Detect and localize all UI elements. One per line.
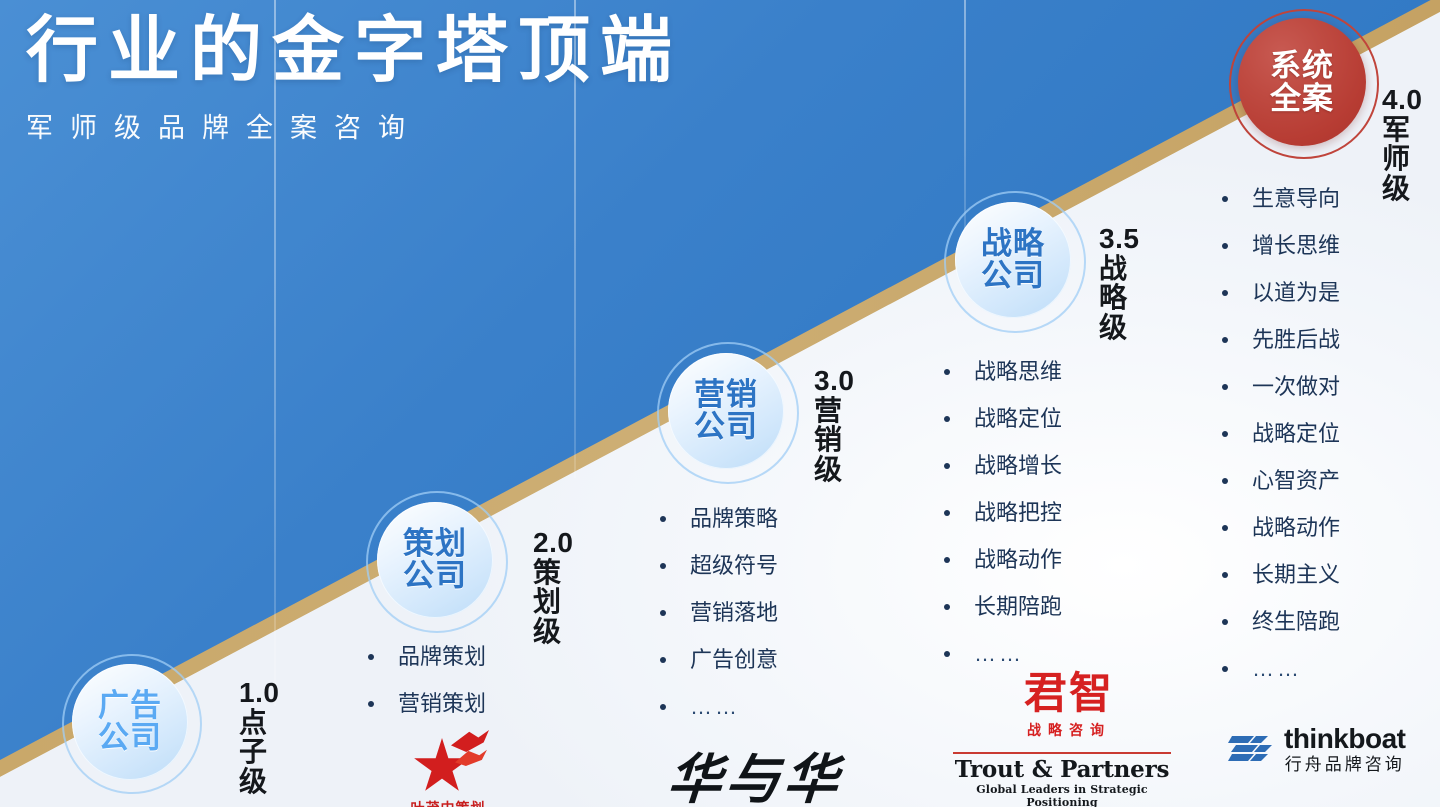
page-title: 行业的金字塔顶端 bbox=[26, 14, 682, 90]
logo-thinkboat: thinkboat 行舟品牌咨询 bbox=[1228, 725, 1406, 773]
logo-huayuhua-wordmark: 华与华 bbox=[657, 735, 853, 807]
stage-5-bullet-8: 长期主义 bbox=[1252, 564, 1340, 586]
stage-2-bullet-1: 营销策划 bbox=[398, 693, 486, 715]
stage-3-bullet-3: 广告创意 bbox=[690, 649, 778, 671]
seal-line1: 系统 bbox=[1270, 48, 1334, 83]
stage-1-level: 1.0 点子级 bbox=[239, 678, 273, 797]
list-item: 战略定位 bbox=[1222, 423, 1340, 445]
stage-1-bubble-line2: 公司 bbox=[98, 720, 162, 755]
bullet-dot-icon bbox=[660, 610, 666, 616]
bullet-dot-icon bbox=[1222, 619, 1228, 625]
logo-trout-wordmark: Trout & Partners bbox=[953, 757, 1171, 782]
stage-3-level-label: 营销级 bbox=[814, 396, 842, 485]
stage-4-bullet-5: 长期陪跑 bbox=[974, 596, 1062, 618]
stage-2-level-label: 策划级 bbox=[533, 558, 561, 647]
list-item: 战略动作 bbox=[1222, 517, 1340, 539]
list-item: 心智资产 bbox=[1222, 470, 1340, 492]
stage-4-bullet-4: 战略动作 bbox=[974, 549, 1062, 571]
list-item: …… bbox=[944, 643, 1062, 665]
bullet-dot-icon bbox=[660, 516, 666, 522]
stage-5-bullet-6: 心智资产 bbox=[1252, 470, 1340, 492]
list-item: 一次做对 bbox=[1222, 376, 1340, 398]
stage-1-level-label: 点子级 bbox=[239, 708, 267, 797]
bullet-dot-icon bbox=[1222, 666, 1228, 672]
list-item: 战略动作 bbox=[944, 549, 1062, 571]
stage-5-bullet-4: 一次做对 bbox=[1252, 376, 1340, 398]
logo-yemaozhong-caption: 叶茂中策划 bbox=[388, 798, 508, 807]
stage-5-bullet-5: 战略定位 bbox=[1252, 423, 1340, 445]
stage-4-bullet-6: …… bbox=[974, 643, 1024, 665]
stage-3-bubble[interactable]: 营销 公司 bbox=[668, 353, 784, 469]
bullet-dot-icon bbox=[1222, 525, 1228, 531]
stage-2-level: 2.0 策划级 bbox=[533, 528, 567, 647]
stage-5-bullets: 生意导向 增长思维 以道为是 先胜后战 一次做对 战略定位 心智资产 战略动作 bbox=[1222, 188, 1340, 705]
stage-5-level-label: 军师级 bbox=[1382, 115, 1410, 204]
stage-4-bullets: 战略思维 战略定位 战略增长 战略把控 战略动作 长期陪跑 …… bbox=[944, 361, 1062, 690]
stage-1-level-number: 1.0 bbox=[239, 678, 273, 708]
stage-3-bullet-2: 营销落地 bbox=[690, 602, 778, 624]
list-item: 战略定位 bbox=[944, 408, 1062, 430]
logo-junzhi: 君智 战略咨询 Trout & Partners Global Leaders … bbox=[953, 673, 1185, 807]
logo-thinkboat-tagline: 行舟品牌咨询 bbox=[1284, 756, 1406, 773]
logo-trout-tagline: Global Leaders in Strategic Positioning bbox=[953, 783, 1171, 807]
stage-2-bullets: 品牌策划 营销策划 bbox=[368, 646, 486, 740]
list-item: 战略增长 bbox=[944, 455, 1062, 477]
stage-4-level: 3.5 战略级 bbox=[1099, 224, 1133, 343]
list-item: 品牌策划 bbox=[368, 646, 486, 668]
stage-4-bullet-0: 战略思维 bbox=[974, 361, 1062, 383]
list-item: 广告创意 bbox=[660, 649, 778, 671]
stage-3-level: 3.0 营销级 bbox=[814, 366, 848, 485]
header: 行业的金字塔顶端 军师级品牌全案咨询 bbox=[26, 14, 682, 145]
bullet-dot-icon bbox=[1222, 337, 1228, 343]
stage-1-bubble-line1: 广告 bbox=[98, 688, 162, 723]
stage-2-bubble-line1: 策划 bbox=[403, 526, 467, 561]
stage-3-bubble-line1: 营销 bbox=[694, 377, 758, 412]
list-item: …… bbox=[660, 696, 778, 718]
thinkboat-mark-icon bbox=[1228, 730, 1274, 768]
bullet-dot-icon bbox=[660, 657, 666, 663]
stage-4-bullet-1: 战略定位 bbox=[974, 408, 1062, 430]
list-item: 终生陪跑 bbox=[1222, 611, 1340, 633]
bullet-dot-icon bbox=[1222, 290, 1228, 296]
bullet-dot-icon bbox=[1222, 572, 1228, 578]
bullet-dot-icon bbox=[1222, 196, 1228, 202]
stage-3-bullets: 品牌策略 超级符号 营销落地 广告创意 …… bbox=[660, 508, 778, 743]
list-item: 先胜后战 bbox=[1222, 329, 1340, 351]
stage-1-bubble[interactable]: 广告 公司 bbox=[72, 664, 188, 780]
list-item: 超级符号 bbox=[660, 555, 778, 577]
list-item: 营销策划 bbox=[368, 693, 486, 715]
list-item: 战略思维 bbox=[944, 361, 1062, 383]
stage-2-bubble-line2: 公司 bbox=[403, 558, 467, 593]
bullet-dot-icon bbox=[1222, 384, 1228, 390]
stage-5-level: 4.0 军师级 bbox=[1382, 85, 1416, 204]
bullet-dot-icon bbox=[944, 416, 950, 422]
list-item: 品牌策略 bbox=[660, 508, 778, 530]
stage-2-bullet-0: 品牌策划 bbox=[398, 646, 486, 668]
stage-4-level-label: 战略级 bbox=[1099, 254, 1127, 343]
list-item: …… bbox=[1222, 658, 1340, 680]
bullet-dot-icon bbox=[944, 369, 950, 375]
list-item: 生意导向 bbox=[1222, 188, 1340, 210]
stage-5-bullet-9: 终生陪跑 bbox=[1252, 611, 1340, 633]
stage-3-bullet-4: …… bbox=[690, 696, 740, 718]
stage-5-bullet-3: 先胜后战 bbox=[1252, 329, 1340, 351]
list-item: 长期陪跑 bbox=[944, 596, 1062, 618]
bullet-dot-icon bbox=[944, 510, 950, 516]
logo-yemaozhong: 叶茂中策划 bbox=[388, 730, 508, 807]
list-item: 增长思维 bbox=[1222, 235, 1340, 257]
list-item: 以道为是 bbox=[1222, 282, 1340, 304]
stage-5-bullet-7: 战略动作 bbox=[1252, 517, 1340, 539]
stage-5-bullet-2: 以道为是 bbox=[1252, 282, 1340, 304]
logo-junzhi-tagline: 战略咨询 bbox=[953, 720, 1185, 740]
stage-3-bullet-1: 超级符号 bbox=[690, 555, 778, 577]
bullet-dot-icon bbox=[944, 651, 950, 657]
stage-4-bubble-line1: 战略 bbox=[981, 226, 1045, 261]
stage-4-bubble[interactable]: 战略 公司 bbox=[955, 202, 1071, 318]
logo-huayuhua: 华与华 bbox=[660, 735, 850, 807]
stage-2-bubble[interactable]: 策划 公司 bbox=[377, 502, 493, 618]
bullet-dot-icon bbox=[660, 563, 666, 569]
stage-5-bullet-0: 生意导向 bbox=[1252, 188, 1340, 210]
stage-4-bullet-2: 战略增长 bbox=[974, 455, 1062, 477]
logo-junzhi-wordmark: 君智 bbox=[953, 673, 1185, 716]
bullet-dot-icon bbox=[944, 557, 950, 563]
stage-3-bullet-0: 品牌策略 bbox=[690, 508, 778, 530]
stage-5-bullet-10: …… bbox=[1252, 658, 1302, 680]
bullet-dot-icon bbox=[1222, 478, 1228, 484]
stage-3-level-number: 3.0 bbox=[814, 366, 848, 396]
bullet-dot-icon bbox=[368, 701, 374, 707]
bullet-dot-icon bbox=[660, 704, 666, 710]
bullet-dot-icon bbox=[1222, 243, 1228, 249]
logo-trout-partners: Trout & Partners Global Leaders in Strat… bbox=[953, 752, 1171, 807]
page-subtitle: 军师级品牌全案咨询 bbox=[26, 106, 682, 145]
list-item: 战略把控 bbox=[944, 502, 1062, 524]
stage-4-bullet-3: 战略把控 bbox=[974, 502, 1062, 524]
bullet-dot-icon bbox=[368, 654, 374, 660]
list-item: 营销落地 bbox=[660, 602, 778, 624]
infographic-canvas: 行业的金字塔顶端 军师级品牌全案咨询 广告 公司 1.0 点子级 策划 公司 2… bbox=[0, 0, 1440, 807]
stage-2-level-number: 2.0 bbox=[533, 528, 567, 558]
stage-4-bubble-line2: 公司 bbox=[981, 258, 1045, 293]
stage-5-level-number: 4.0 bbox=[1382, 85, 1416, 115]
bullet-dot-icon bbox=[1222, 431, 1228, 437]
stage-3-bubble-line2: 公司 bbox=[694, 409, 758, 444]
list-item: 长期主义 bbox=[1222, 564, 1340, 586]
bullet-dot-icon bbox=[944, 604, 950, 610]
logo-thinkboat-wordmark: thinkboat bbox=[1284, 725, 1406, 753]
stage-5-bullet-1: 增长思维 bbox=[1252, 235, 1340, 257]
bullet-dot-icon bbox=[944, 463, 950, 469]
seal-line2: 全案 bbox=[1270, 81, 1334, 116]
system-full-solution-seal[interactable]: 系统 全案 bbox=[1238, 18, 1366, 146]
stage-4-level-number: 3.5 bbox=[1099, 224, 1133, 254]
red-star-flame-icon bbox=[405, 730, 491, 796]
